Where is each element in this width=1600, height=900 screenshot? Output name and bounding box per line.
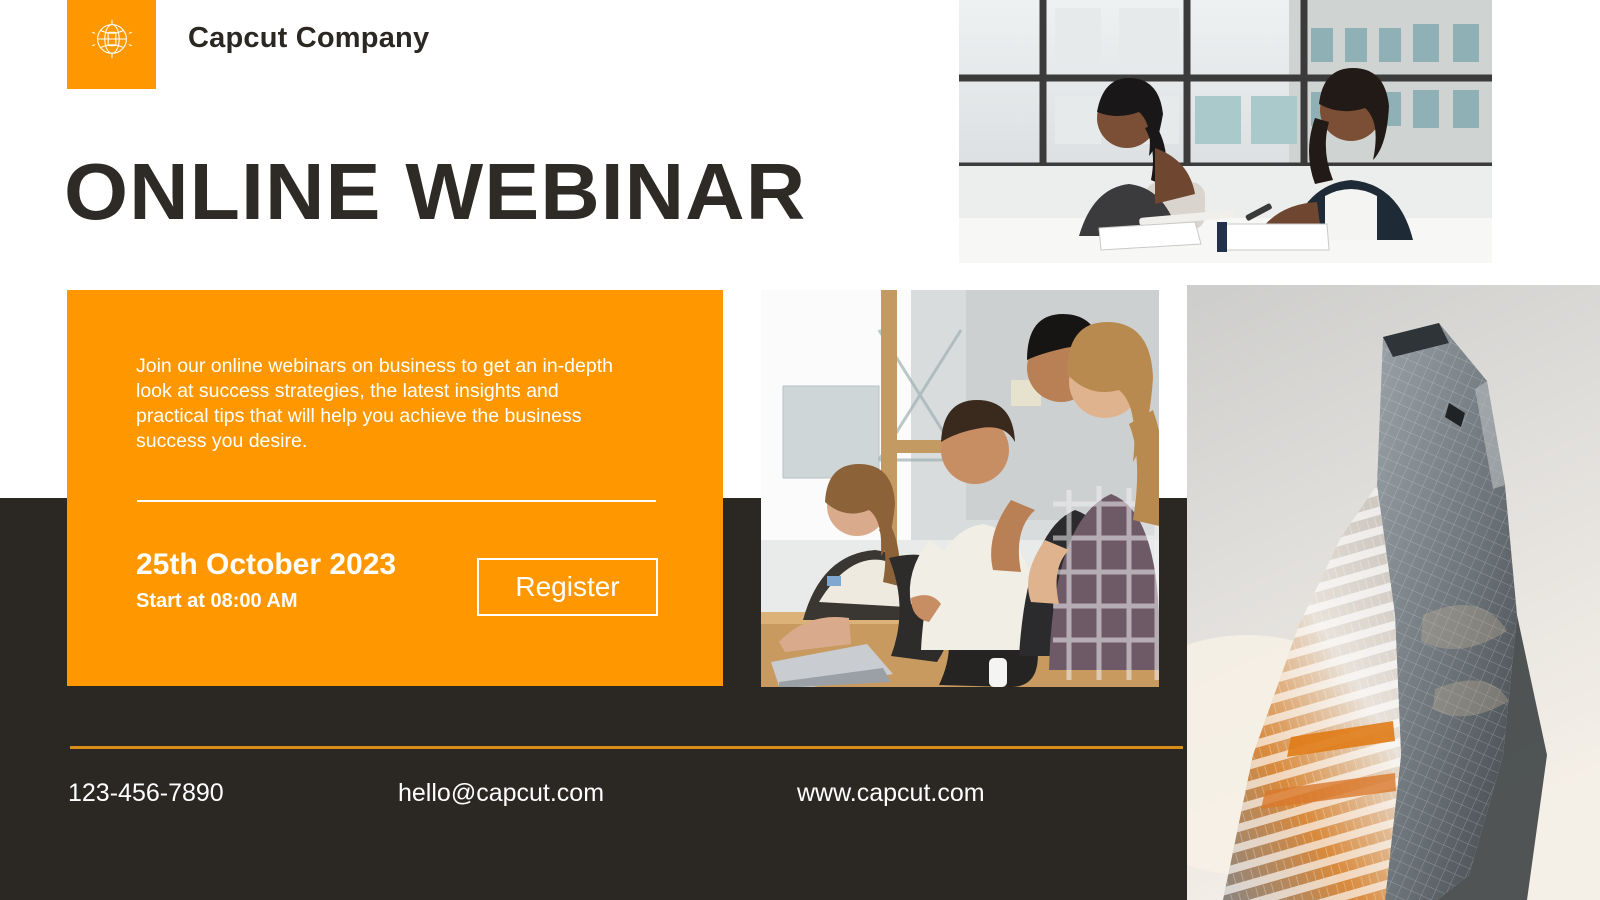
footer-divider	[70, 746, 1183, 749]
event-date: 25th October 2023	[136, 548, 396, 582]
webinar-poster: Capcut Company ONLINE WEBINAR Join our o…	[0, 0, 1600, 900]
card-divider	[137, 500, 656, 502]
page-title: ONLINE WEBINAR	[64, 148, 806, 236]
register-button[interactable]: Register	[477, 558, 658, 616]
webinar-details-card: Join our online webinars on business to …	[67, 290, 723, 686]
company-name: Capcut Company	[188, 22, 429, 55]
webinar-description: Join our online webinars on business to …	[136, 354, 666, 454]
footer-phone[interactable]: 123-456-7890	[68, 779, 224, 808]
event-start-time: Start at 08:00 AM	[136, 590, 298, 613]
meeting-photo	[959, 0, 1492, 263]
team-photo	[761, 290, 1159, 687]
footer-email[interactable]: hello@capcut.com	[398, 779, 604, 808]
tower-photo	[1187, 285, 1600, 900]
footer-website[interactable]: www.capcut.com	[797, 779, 985, 808]
logo-tile	[67, 0, 156, 89]
globe-icon	[89, 16, 135, 62]
